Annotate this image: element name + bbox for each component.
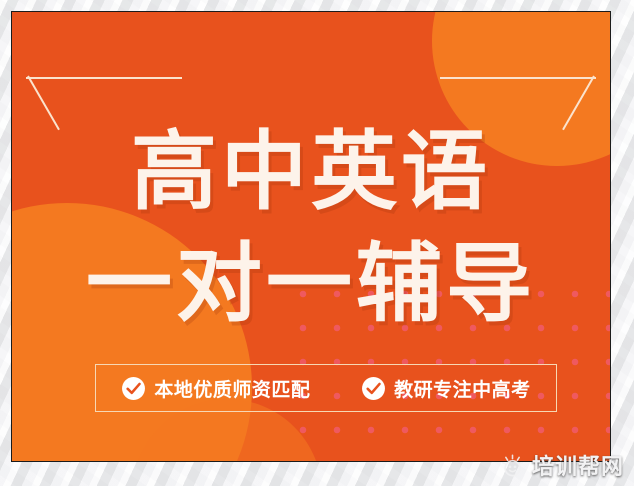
promo-poster: 高中英语 一对一辅导 本地优质师资匹配 教研专注中高考	[0, 0, 634, 486]
orange-banner-panel: 高中英语 一对一辅导 本地优质师资匹配 教研专注中高考	[11, 11, 611, 462]
chevron-line-ornament-left	[26, 70, 182, 136]
headline-line-2: 一对一辅导	[12, 228, 610, 340]
ornament-horizontal-line	[440, 77, 596, 79]
check-circle-icon	[121, 376, 146, 401]
check-circle-icon	[361, 376, 386, 401]
circle-top-right-decoration	[432, 11, 611, 166]
feature-badge-label: 本地优质师资匹配	[154, 375, 310, 402]
ornament-horizontal-line	[26, 77, 182, 79]
ornament-diagonal-line	[562, 76, 595, 131]
ornament-diagonal-line	[27, 76, 60, 131]
feature-badge: 本地优质师资匹配	[121, 375, 310, 402]
headline-line-1: 高中英语	[12, 116, 610, 228]
feature-badge-label: 教研专注中高考	[394, 375, 531, 402]
circle-bottom-left-decoration	[11, 203, 252, 462]
chevron-line-ornament-right	[440, 70, 596, 136]
feature-badge-bar: 本地优质师资匹配 教研专注中高考	[95, 364, 557, 412]
feature-badge: 教研专注中高考	[361, 375, 531, 402]
headline-block: 高中英语 一对一辅导	[12, 116, 610, 340]
